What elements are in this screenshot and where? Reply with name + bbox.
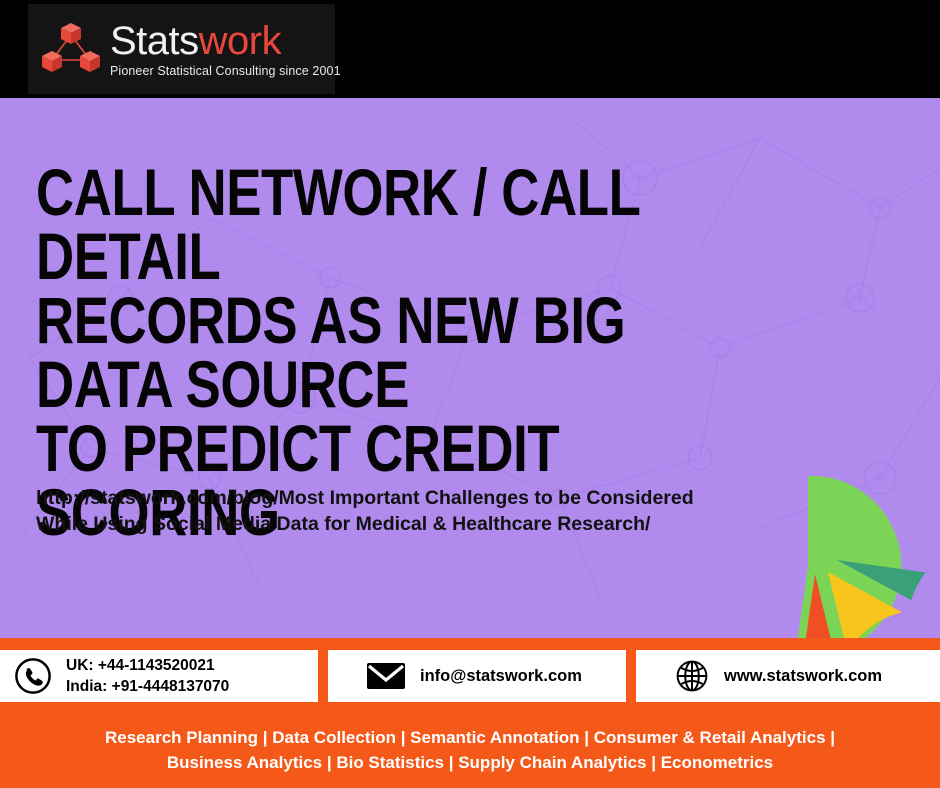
services-list: Research Planning | Data Collection | Se… bbox=[0, 726, 940, 775]
phone-india: India: +91-4448137070 bbox=[66, 676, 229, 697]
phone-uk: UK: +44-1143520021 bbox=[66, 655, 229, 676]
phone-icon bbox=[14, 657, 52, 695]
contact-card-phone[interactable]: UK: +44-1143520021 India: +91-4448137070 bbox=[0, 650, 318, 702]
globe-icon bbox=[674, 658, 710, 694]
contact-card-website[interactable]: www.statswork.com bbox=[636, 650, 940, 702]
contact-bar: UK: +44-1143520021 India: +91-4448137070… bbox=[0, 650, 940, 702]
contact-card-email[interactable]: info@statswork.com bbox=[328, 650, 626, 702]
brand-logo[interactable]: Statswork Pioneer Statistical Consulting… bbox=[28, 4, 335, 94]
wordmark-work: work bbox=[199, 19, 281, 63]
three-cubes-network-icon bbox=[38, 19, 104, 79]
brand-wordmark: Statswork Pioneer Statistical Consulting… bbox=[110, 21, 341, 78]
pie-chart bbox=[718, 466, 940, 638]
phone-numbers: UK: +44-1143520021 India: +91-4448137070 bbox=[66, 655, 229, 698]
body-area: CALL NETWORK / CALL DETAIL RECORDS AS NE… bbox=[0, 98, 940, 638]
poster-canvas: Statswork Pioneer Statistical Consulting… bbox=[0, 0, 940, 788]
services-row-1: Research Planning | Data Collection | Se… bbox=[0, 726, 940, 751]
article-url[interactable]: http://statswork.com/blog/Most Important… bbox=[36, 486, 726, 537]
services-row-2: Business Analytics | Bio Statistics | Su… bbox=[0, 751, 940, 776]
wordmark-stats: Stats bbox=[110, 19, 199, 63]
envelope-icon bbox=[366, 661, 406, 691]
header-band: Statswork Pioneer Statistical Consulting… bbox=[0, 0, 940, 98]
brand-tagline: Pioneer Statistical Consulting since 200… bbox=[110, 65, 341, 78]
website-address: www.statswork.com bbox=[724, 665, 882, 688]
email-address: info@statswork.com bbox=[420, 665, 582, 688]
